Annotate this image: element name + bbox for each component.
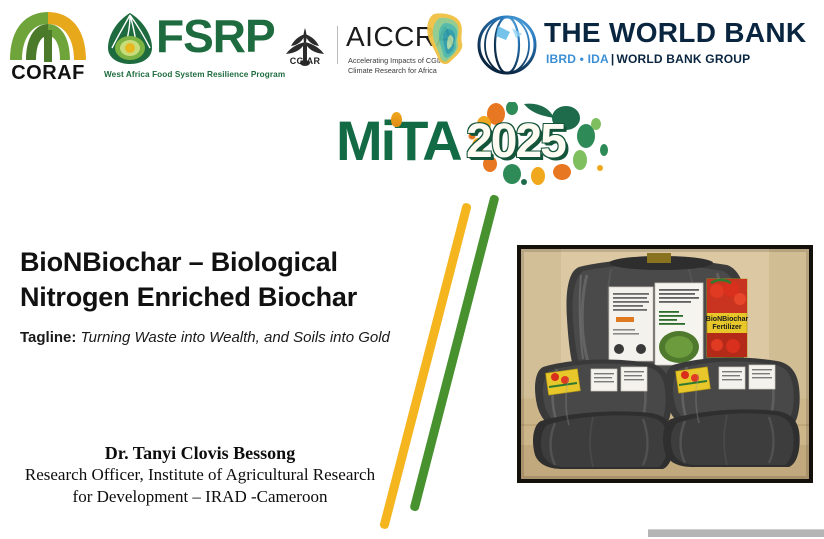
tagline-text: Turning Waste into Wealth, and Soils int… <box>76 329 390 346</box>
africa-map-icon <box>420 10 472 68</box>
logo-coraf: CORAF <box>6 8 90 88</box>
cgiar-mark-icon <box>278 24 332 76</box>
slide-tagline: Tagline: Turning Waste into Wealth, and … <box>20 328 440 348</box>
presenter-role-line2: for Development – IRAD -Cameroon <box>0 486 400 508</box>
fsrp-subtitle: West Africa Food System Resilience Progr… <box>104 70 284 79</box>
product-photo: BioNBiochar Fertilizer <box>517 245 813 483</box>
presenter-block: Dr. Tanyi Clovis Bessong Research Office… <box>0 442 400 508</box>
world-bank-name: THE WORLD BANK <box>544 18 806 48</box>
slide-title: BioNBiochar – Biological Nitrogen Enrich… <box>20 245 420 315</box>
event-logo-mita-2025: MiTA 2025 <box>336 104 616 184</box>
mita-dot-icon <box>391 112 402 127</box>
bottom-scrollbar[interactable] <box>648 529 824 537</box>
tagline-label: Tagline: <box>20 329 76 346</box>
logo-world-bank: THE WORLD BANK IBRD • IDA|WORLD BANK GRO… <box>476 10 746 82</box>
logo-fsrp: FSRP West Africa Food System Resilience … <box>102 8 270 86</box>
fsrp-acronym: FSRP <box>156 6 275 66</box>
presenter-role-line1: Research Officer, Institute of Agricultu… <box>0 464 400 486</box>
presentation-slide: CORAF FSRP West Africa Food System Resil… <box>0 0 824 539</box>
presenter-name: Dr. Tanyi Clovis Bessong <box>0 442 400 464</box>
globe-icon <box>476 14 538 76</box>
mita-year: 2025 <box>466 116 565 168</box>
coraf-mark-icon <box>8 10 88 62</box>
world-bank-group: WORLD BANK GROUP <box>616 52 750 66</box>
slide-title-line1: BioNBiochar – Biological <box>20 245 420 280</box>
svg-text:BioNBiochar: BioNBiochar <box>706 316 749 323</box>
coraf-label: CORAF <box>6 62 90 85</box>
world-bank-ibrd: IBRD • IDA <box>546 52 609 66</box>
logo-bar: CORAF FSRP West Africa Food System Resil… <box>0 0 824 96</box>
logo-aiccra: CGIAR AICCRA Accelerating Impacts of CGI… <box>278 8 468 88</box>
slide-title-line2: Nitrogen Enriched Biochar <box>20 280 420 315</box>
aiccra-divider <box>337 26 338 64</box>
svg-text:Fertilizer: Fertilizer <box>712 324 741 331</box>
cgiar-label: CGIAR <box>278 56 332 66</box>
product-photo-illustration: BioNBiochar Fertilizer <box>521 249 809 479</box>
fsrp-leaf-icon <box>102 10 158 66</box>
world-bank-subtitle: IBRD • IDA|WORLD BANK GROUP <box>546 52 750 66</box>
